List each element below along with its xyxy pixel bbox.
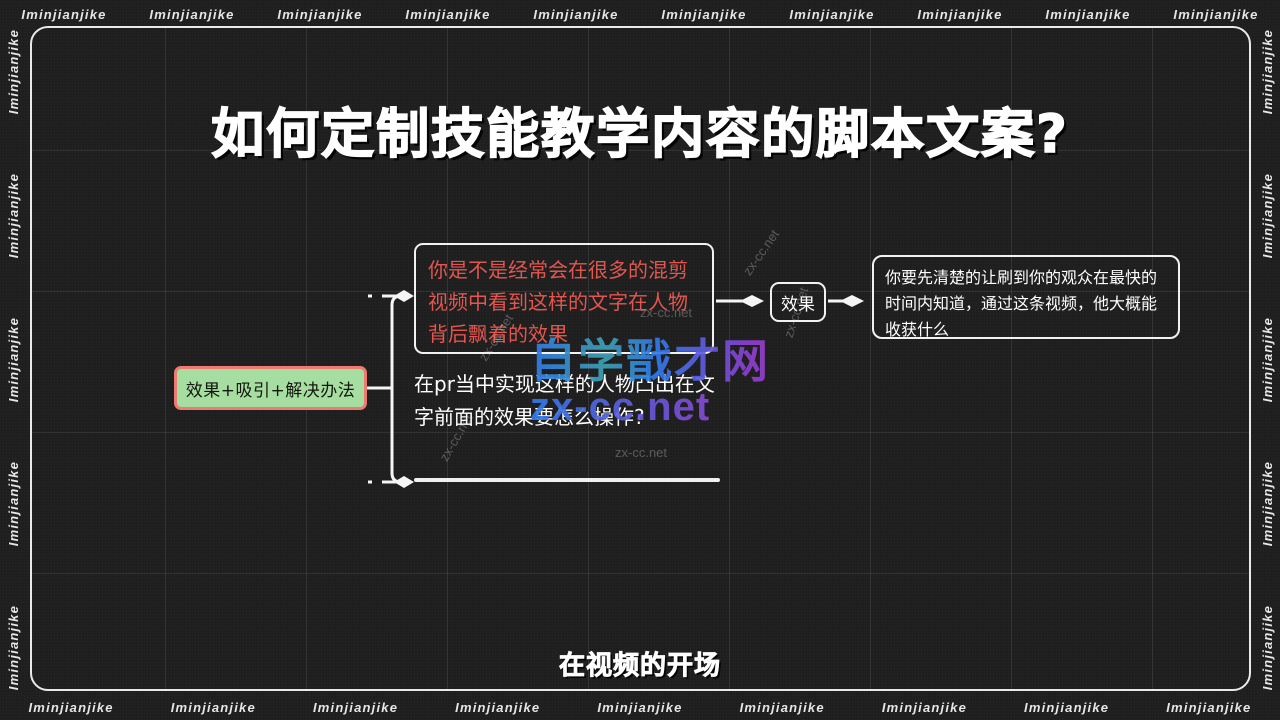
watermark-text: Iminjianjike [1024, 700, 1109, 715]
watermark-text: Iminjianjike [6, 461, 21, 546]
watermark-text: Iminjianjike [882, 700, 967, 715]
node-operation-underline [414, 478, 720, 482]
watermark-text: Iminjianjike [1166, 700, 1251, 715]
watermark-text: Iminjianjike [740, 700, 825, 715]
watermark-text: Iminjianjike [171, 700, 256, 715]
watermark-text: Iminjianjike [1260, 317, 1275, 402]
node-effect-label: 效果 [781, 290, 815, 315]
node-operation-question[interactable]: 在pr当中实现这样的人物凸出在文字前面的效果要怎么操作? [414, 368, 724, 434]
watermark-text: Iminjianjike [277, 7, 362, 22]
watermark-text: Iminjianjike [661, 7, 746, 22]
node-hook-question-text: 你是不是经常会在很多的混剪视频中看到这样的文字在人物背后飘着的效果 [428, 258, 688, 346]
watermark-text: Iminjianjike [313, 700, 398, 715]
watermark-text: Iminjianjike [917, 7, 1002, 22]
node-effect[interactable]: 效果 [770, 282, 826, 322]
node-payoff[interactable]: 你要先清楚的让刷到你的观众在最快的时间内知道，通过这条视频，他大概能收获什么 [872, 255, 1180, 339]
watermark-text: Iminjianjike [29, 700, 114, 715]
page-title: 如何定制技能教学内容的脚本文案? [0, 92, 1280, 168]
watermark-text: Iminjianjike [6, 317, 21, 402]
watermark-text: Iminjianjike [1045, 7, 1130, 22]
watermark-text: Iminjianjike [789, 7, 874, 22]
watermark-text: Iminjianjike [597, 700, 682, 715]
watermark-text: Iminjianjike [21, 7, 106, 22]
watermark-strip-bottom: IminjianjikeIminjianjikeIminjianjikeImin… [0, 696, 1280, 718]
watermark-strip-top: IminjianjikeIminjianjikeIminjianjikeImin… [0, 3, 1280, 25]
node-formula[interactable]: 效果+吸引+解决办法 [174, 366, 367, 410]
watermark-text: Iminjianjike [1260, 461, 1275, 546]
watermark-text: Iminjianjike [149, 7, 234, 22]
watermark-text: Iminjianjike [455, 700, 540, 715]
node-hook-question[interactable]: 你是不是经常会在很多的混剪视频中看到这样的文字在人物背后飘着的效果 [414, 243, 714, 354]
node-payoff-text: 你要先清楚的让刷到你的观众在最快的时间内知道，通过这条视频，他大概能收获什么 [885, 268, 1157, 339]
watermark-text: Iminjianjike [405, 7, 490, 22]
watermark-text: Iminjianjike [1173, 7, 1258, 22]
node-formula-label: 效果+吸引+解决办法 [186, 376, 356, 401]
slide-caption: 在视频的开场 [0, 645, 1280, 682]
watermark-text: Iminjianjike [6, 173, 21, 258]
watermark-text: Iminjianjike [533, 7, 618, 22]
slide-canvas: 如何定制技能教学内容的脚本文案? 在视频的开场 效果+吸引+解决办法 你是不是经… [0, 0, 1280, 720]
node-operation-question-text: 在pr当中实现这样的人物凸出在文字前面的效果要怎么操作? [414, 372, 715, 429]
watermark-text: Iminjianjike [1260, 173, 1275, 258]
